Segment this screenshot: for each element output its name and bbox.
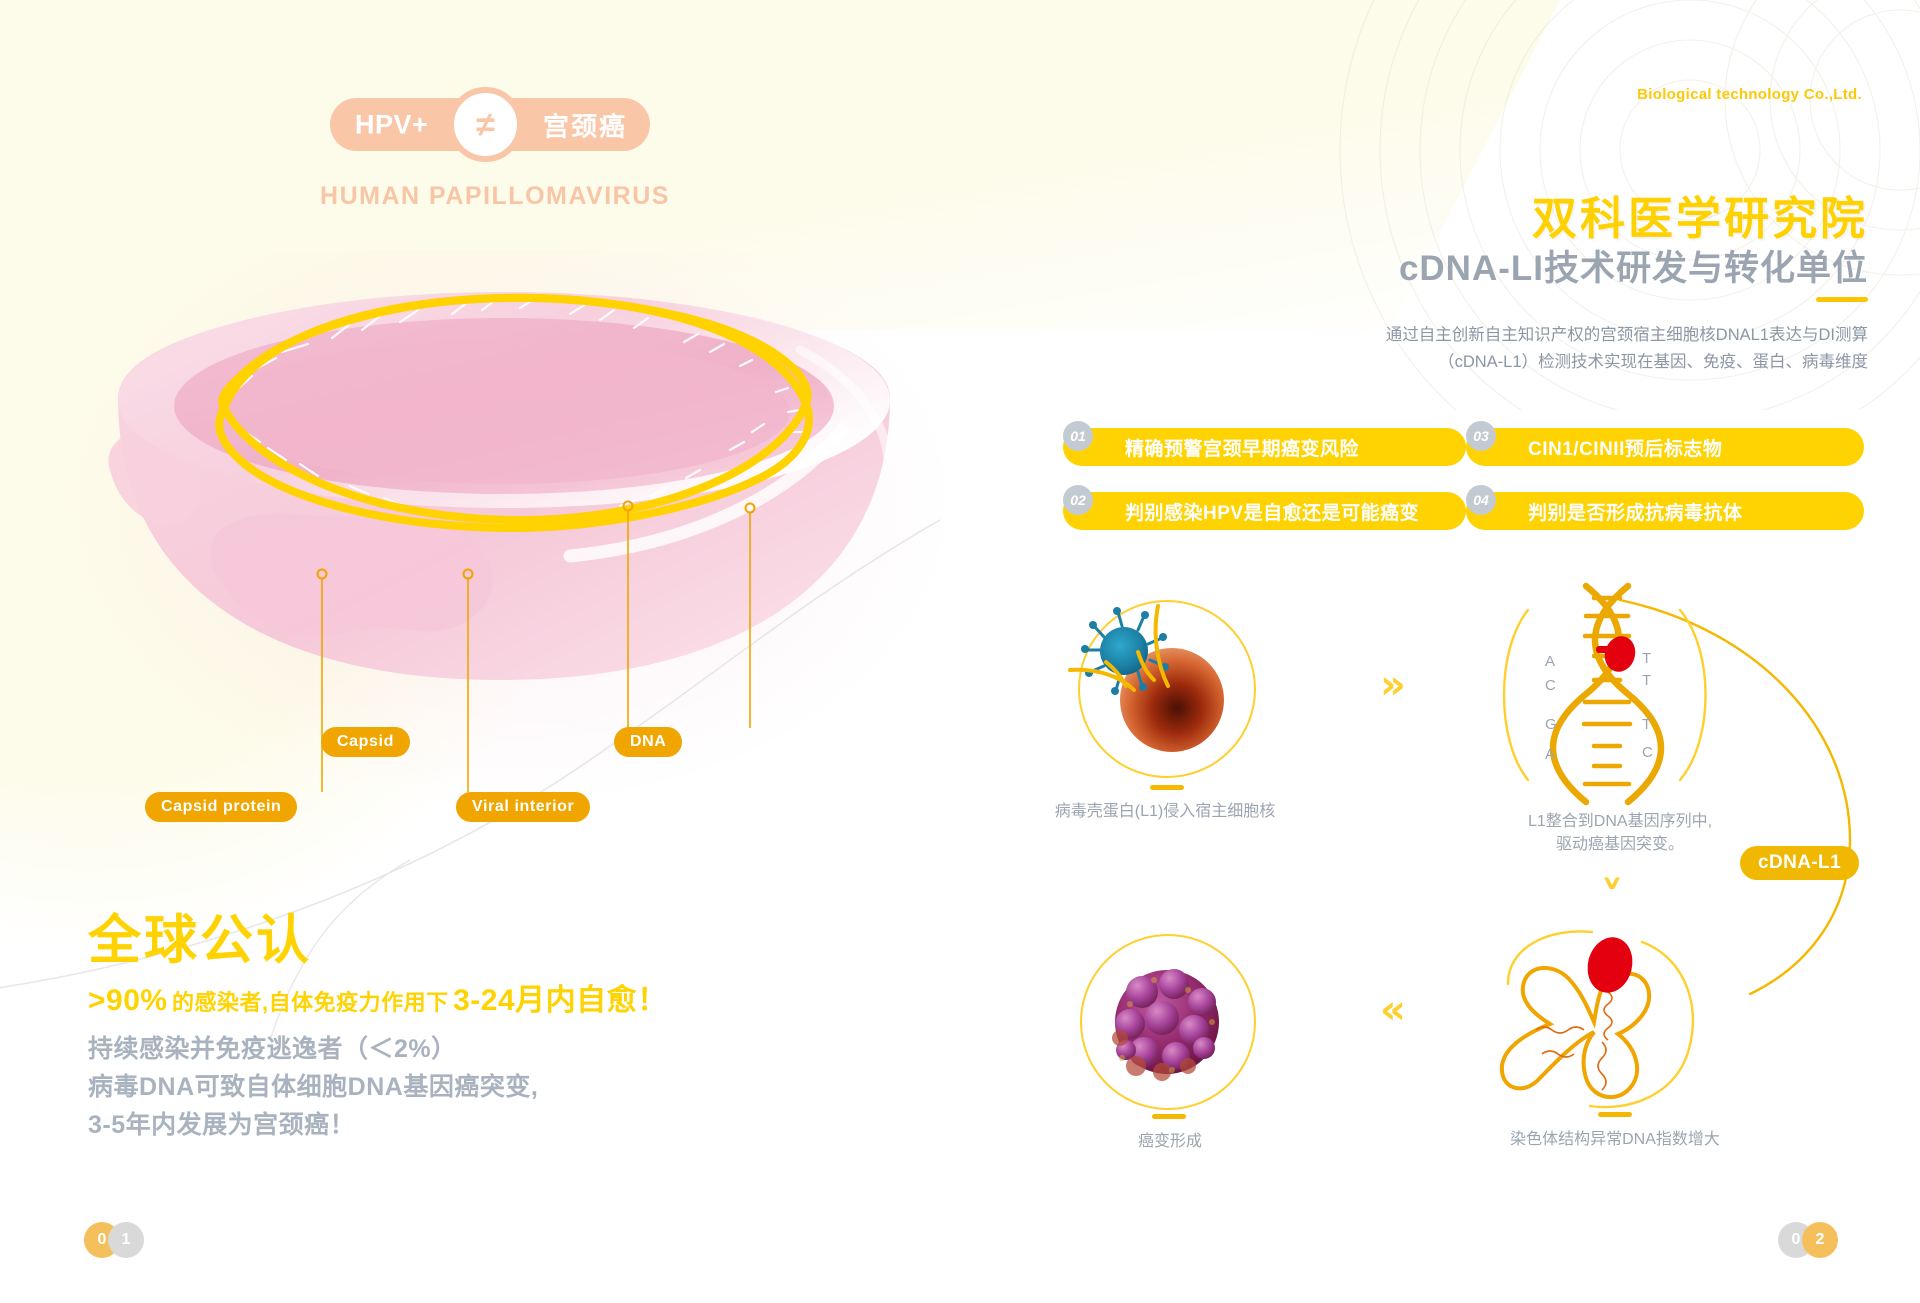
arrow-down-icon: ˅ — [1600, 876, 1624, 924]
step-3-artwork — [1490, 930, 1740, 1130]
dna-base-left-1: A — [1545, 653, 1555, 670]
feature-item-03[interactable]: CIN1/CINII预后标志物 03 — [1466, 428, 1864, 466]
process-step-3: 染色体结构异常DNA指数增大 — [1490, 930, 1740, 1160]
institute-subtitle: cDNA-LI技术研发与转化单位 — [1399, 240, 1868, 291]
feature-item-02[interactable]: 判别感染HPV是自愈还是可能癌变 02 — [1063, 492, 1466, 530]
callout-dna[interactable]: DNA — [614, 727, 682, 757]
feature-number-02: 02 — [1063, 485, 1093, 515]
hpv-badge-cn-label: 宫颈癌 — [543, 106, 627, 143]
step-1-caption: 病毒壳蛋白(L1)侵入宿主细胞核 — [1000, 800, 1330, 823]
feature-label-01: 精确预警宫颈早期癌变风险 — [1063, 428, 1466, 466]
global-recognition-body-line-2: 病毒DNA可致自体细胞DNA基因癌突变, — [88, 1068, 538, 1106]
step-2-caption: L1整合到DNA基因序列中, 驱动癌基因突变。 — [1450, 810, 1790, 856]
not-equal-icon: ≠ — [448, 87, 523, 162]
virus-illustration — [100, 280, 920, 700]
callout-capsid-protein[interactable]: Capsid protein — [145, 792, 297, 822]
step-1-tick — [1150, 785, 1184, 790]
step-4-caption: 癌变形成 — [1030, 1130, 1310, 1153]
page-number-right: 0 2 — [1778, 1222, 1838, 1258]
stat-highlight: 3-24月内自愈！ — [453, 984, 668, 1017]
feature-item-01[interactable]: 精确预警宫颈早期癌变风险 01 — [1063, 428, 1466, 466]
chromosome-abnormality — [1582, 933, 1638, 998]
step-3-caption: 染色体结构异常DNA指数增大 — [1450, 1128, 1780, 1151]
callout-viral-interior[interactable]: Viral interior — [456, 792, 590, 822]
dna-base-left-3: G — [1545, 716, 1557, 733]
title-divider — [1816, 297, 1868, 302]
step-4-tick — [1152, 1114, 1186, 1119]
hpv-subtitle: HUMAN PAPILLOMAVIRUS — [305, 182, 685, 211]
stat-text: 的感染者,自体免疫力作用下 — [172, 990, 449, 1015]
dna-base-right-4: C — [1642, 744, 1653, 761]
callout-capsid[interactable]: Capsid — [321, 727, 410, 757]
process-step-1: 病毒壳蛋白(L1)侵入宿主细胞核 — [1060, 590, 1290, 840]
dna-base-left-2: C — [1545, 677, 1556, 694]
company-name: Biological technology Co.,Ltd. — [1637, 86, 1862, 103]
infographic-page: HPV+ 宫颈癌 ≠ HUMAN PAPILLOMAVIRUS Biologic… — [0, 0, 1920, 1303]
process-step-4: 癌变形成 — [1070, 930, 1300, 1170]
page-number-left: 0 1 — [84, 1222, 144, 1258]
institute-description-line-2: （cDNA-L1）检测技术实现在基因、免疫、蛋白、病毒维度 — [1268, 349, 1868, 376]
stat-value: >90% — [88, 984, 168, 1017]
institute-description-line-1: 通过自主创新自主知识产权的宫颈宿主细胞核DNAL1表达与DI测算 — [1268, 322, 1868, 349]
feature-number-04: 04 — [1466, 485, 1496, 515]
arrow-backward-icon: « — [1380, 990, 1406, 1030]
institute-title: 双科医学研究院 — [1532, 182, 1868, 247]
feature-number-03: 03 — [1466, 421, 1496, 451]
global-recognition-body-line-3: 3-5年内发展为宫颈癌！ — [88, 1106, 538, 1144]
hpv-badge-en-label: HPV+ — [355, 109, 428, 140]
dna-base-right-3: T — [1642, 716, 1651, 733]
leader-lines — [100, 280, 920, 840]
cdna-l1-badge[interactable]: cDNA-L1 — [1740, 846, 1859, 880]
step-1-artwork — [1060, 590, 1290, 790]
process-step-2: A C G A T T T C L1整合到DNA基因序列中, 驱动癌基因突变。 — [1490, 580, 1750, 860]
feature-label-02: 判别感染HPV是自愈还是可能癌变 — [1063, 492, 1466, 530]
global-recognition-title: 全球公认 — [88, 898, 312, 974]
feature-label-04: 判别是否形成抗病毒抗体 — [1466, 492, 1864, 530]
page-number-left-digit-2: 1 — [108, 1222, 144, 1258]
page-number-right-digit-2: 2 — [1802, 1222, 1838, 1258]
dna-base-right-1: T — [1642, 650, 1651, 667]
feature-label-03: CIN1/CINII预后标志物 — [1466, 428, 1864, 466]
feature-item-04[interactable]: 判别是否形成抗病毒抗体 04 — [1466, 492, 1864, 530]
step-2-artwork — [1490, 580, 1750, 810]
institute-description: 通过自主创新自主知识产权的宫颈宿主细胞核DNAL1表达与DI测算 （cDNA-L… — [1268, 322, 1868, 376]
dna-base-left-4: A — [1545, 746, 1555, 763]
global-recognition-stat-line: >90% 的感染者,自体免疫力作用下 3-24月内自愈！ — [88, 975, 668, 1019]
global-recognition-body: 持续感染并免疫逃逸者（＜2%） 病毒DNA可致自体细胞DNA基因癌突变, 3-5… — [88, 1030, 538, 1144]
arrow-forward-icon: » — [1380, 665, 1406, 705]
step-4-artwork — [1070, 930, 1300, 1120]
feature-number-01: 01 — [1063, 421, 1093, 451]
step-3-tick — [1598, 1112, 1632, 1117]
dna-base-right-2: T — [1642, 672, 1651, 689]
global-recognition-body-line-1: 持续感染并免疫逃逸者（＜2%） — [88, 1030, 538, 1068]
